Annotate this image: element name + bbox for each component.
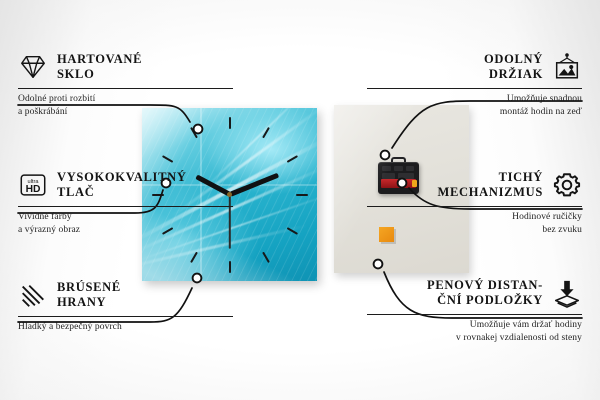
feature-title-line1: TICHÝ	[438, 170, 543, 185]
feature-title: VYSOKOKVALITNÝ TLAČ	[57, 170, 187, 201]
hanger-hook-icon	[391, 157, 406, 166]
feature-title-line2: MECHANIZMUS	[438, 185, 543, 200]
infographic-canvas: HARTOVANÉ SKLO Odolné proti rozbití a po…	[0, 0, 600, 400]
feature-desc-line2: a výrazný obraz	[18, 224, 233, 238]
divider	[18, 206, 233, 207]
diagonal-lines-icon	[18, 280, 48, 310]
feature-header: HARTOVANÉ SKLO	[18, 52, 233, 83]
divider	[367, 88, 582, 89]
feature-desc-line2: bez zvuku	[367, 224, 582, 238]
feature-desc-line1: Vividné farby	[18, 211, 233, 225]
feature-title: PENOVÝ DISTAN- ČNÍ PODLOŽKY	[427, 278, 543, 309]
feature-description: Umožňuje vám držať hodiny v rovnakej vzd…	[367, 319, 582, 347]
divider	[18, 316, 233, 317]
feature-durable-hanger: ODOLNÝ DRŽIAK Umožňuje snadnou montáž ho…	[367, 52, 582, 120]
feature-title: BRÚSENÉ HRANY	[57, 280, 121, 311]
feature-title-line1: VYSOKOKVALITNÝ	[57, 170, 187, 185]
ultra-hd-icon: ultra HD	[18, 170, 48, 200]
gear-icon	[552, 170, 582, 200]
feature-title-line2: DRŽIAK	[484, 67, 543, 82]
feature-header: ODOLNÝ DRŽIAK	[367, 52, 582, 83]
feature-polished-edges: BRÚSENÉ HRANY Hladký a bezpečný povrch	[18, 280, 233, 334]
feature-description: Odolné proti rozbití a poškrábání	[18, 93, 233, 121]
feature-description: Hladký a bezpečný povrch	[18, 321, 233, 335]
feature-header: PENOVÝ DISTAN- ČNÍ PODLOŽKY	[367, 278, 582, 309]
feature-description: Umožňuje snadnou montáž hodin na zeď	[367, 93, 582, 121]
feature-desc-line1: Odolné proti rozbití	[18, 93, 233, 107]
feature-title: TICHÝ MECHANIZMUS	[438, 170, 543, 201]
feature-tempered-glass: HARTOVANÉ SKLO Odolné proti rozbití a po…	[18, 52, 233, 120]
feature-title-line2: ČNÍ PODLOŽKY	[427, 293, 543, 308]
feature-description: Vividné farby a výrazný obraz	[18, 211, 233, 239]
feature-title-line1: ODOLNÝ	[484, 52, 543, 67]
feature-description: Hodinové ručičky bez zvuku	[367, 211, 582, 239]
feature-foam-spacers: PENOVÝ DISTAN- ČNÍ PODLOŽKY Umožňuje vám…	[367, 278, 582, 346]
feature-title: ODOLNÝ DRŽIAK	[484, 52, 543, 83]
feature-desc-line2: a poškrábání	[18, 106, 233, 120]
divider	[367, 206, 582, 207]
press-down-layers-icon	[552, 278, 582, 308]
feature-title-line2: HRANY	[57, 295, 121, 310]
clock-tick	[229, 261, 231, 273]
feature-silent-mechanism: TICHÝ MECHANIZMUS Hodinové ručičky bez z…	[367, 170, 582, 238]
feature-desc-line2: v rovnakej vzdialenosti od steny	[367, 332, 582, 346]
feature-desc-line1: Hodinové ručičky	[367, 211, 582, 225]
feature-title-line2: TLAČ	[57, 185, 187, 200]
feature-desc-line1: Umožňuje vám držať hodiny	[367, 319, 582, 333]
feature-title: HARTOVANÉ SKLO	[57, 52, 142, 83]
feature-header: BRÚSENÉ HRANY	[18, 280, 233, 311]
feature-desc-line1: Umožňuje snadnou	[367, 93, 582, 107]
feature-header: TICHÝ MECHANIZMUS	[367, 170, 582, 201]
hanging-picture-icon	[552, 52, 582, 82]
feature-title-line2: SKLO	[57, 67, 142, 82]
feature-title-line1: PENOVÝ DISTAN-	[427, 278, 543, 293]
divider	[367, 314, 582, 315]
feature-desc-line1: Hladký a bezpečný povrch	[18, 321, 233, 335]
clock-tick	[296, 194, 308, 196]
feature-title-line1: BRÚSENÉ	[57, 280, 121, 295]
feature-desc-line2: montáž hodin na zeď	[367, 106, 582, 120]
feature-high-quality-print: ultra HD VYSOKOKVALITNÝ TLAČ Vividné far…	[18, 170, 233, 238]
diamond-icon	[18, 52, 48, 82]
feature-header: ultra HD VYSOKOKVALITNÝ TLAČ	[18, 170, 233, 201]
divider	[18, 88, 233, 89]
ultra-hd-big-label: HD	[26, 184, 41, 195]
feature-title-line1: HARTOVANÉ	[57, 52, 142, 67]
